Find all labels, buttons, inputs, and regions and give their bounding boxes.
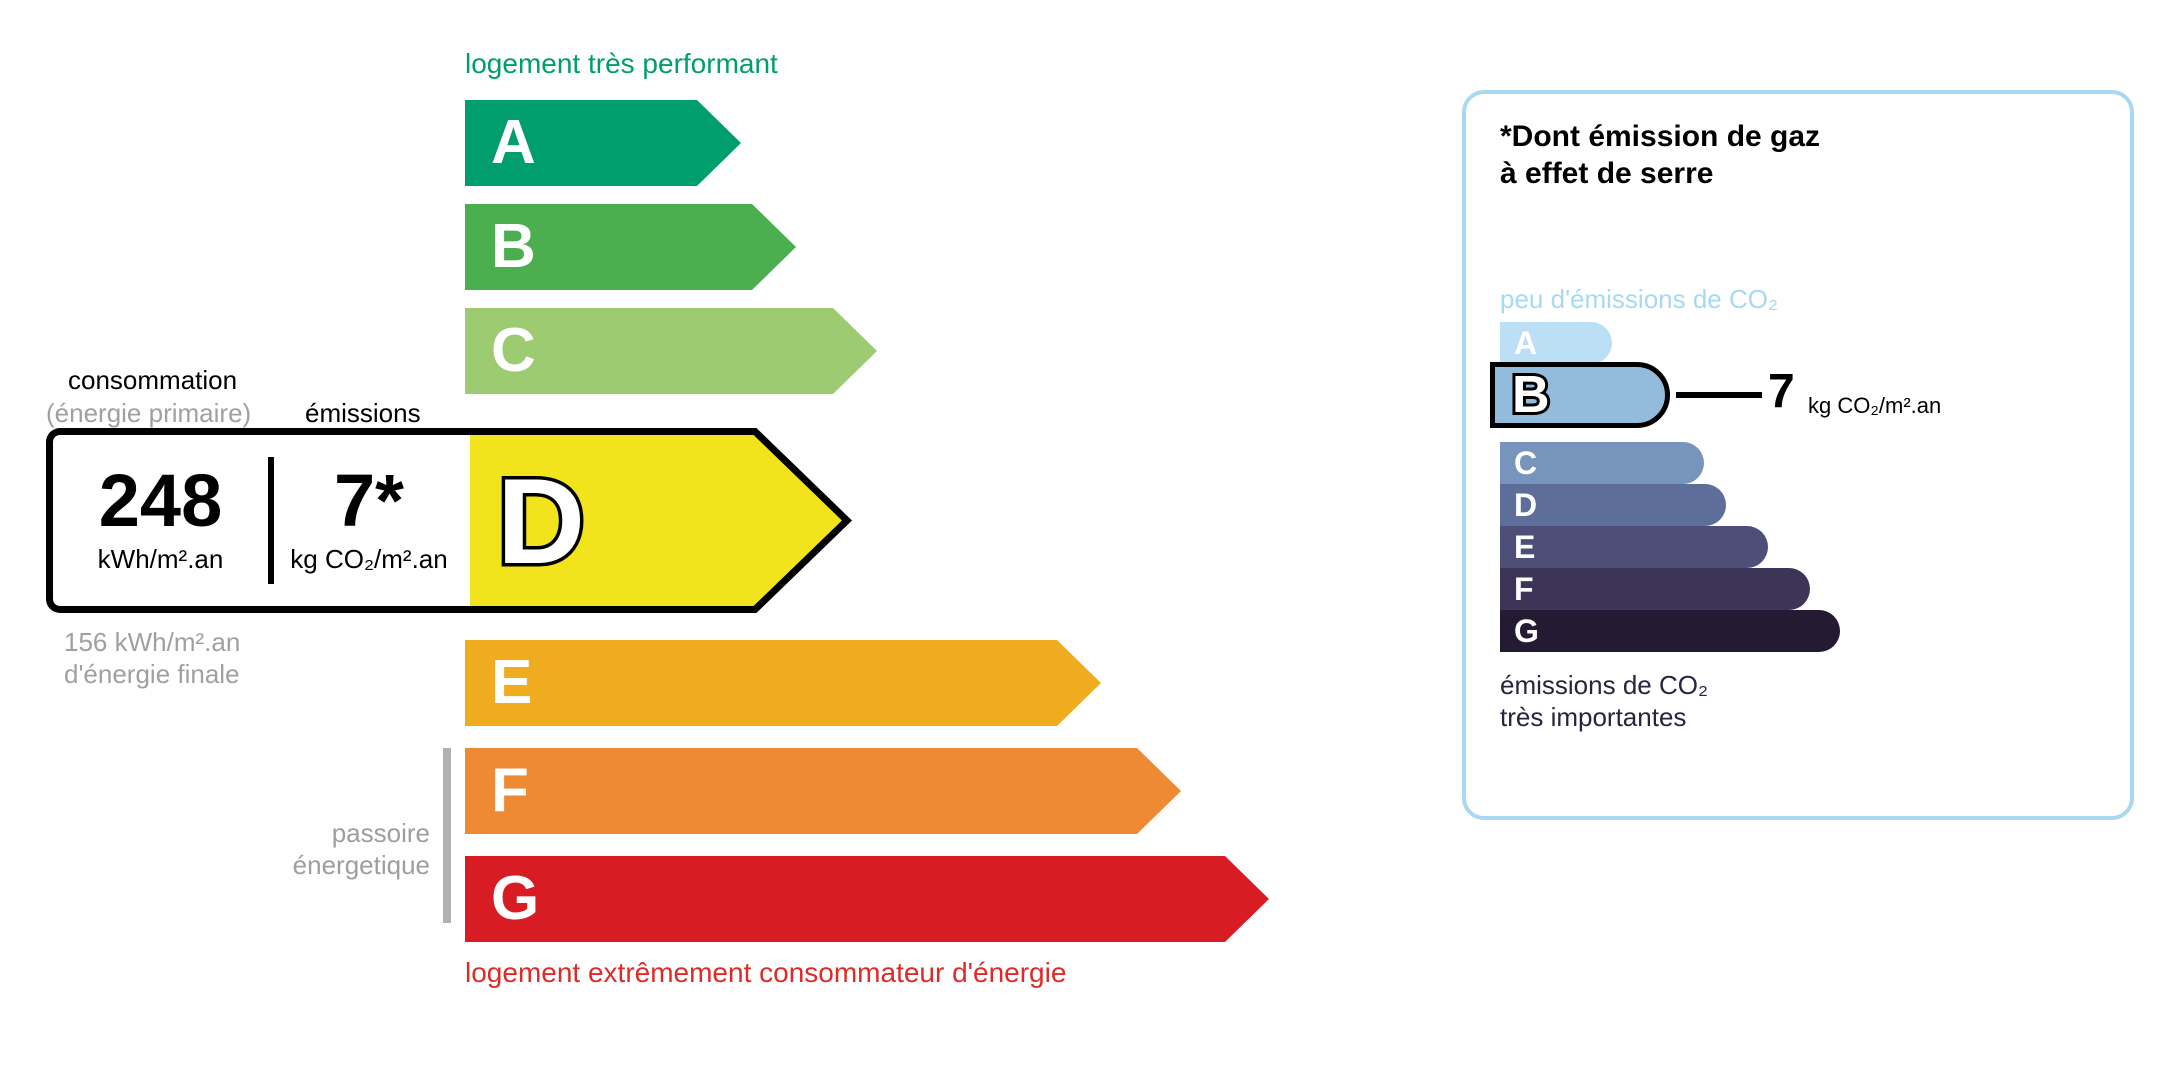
energy-class-letter-f: F xyxy=(491,760,529,822)
co2-class-letter-d: D xyxy=(1514,489,1537,521)
co2-class-letter-a: A xyxy=(1514,327,1537,359)
co2-panel-title: *Dont émission de gaz à effet de serre xyxy=(1500,119,1820,192)
arrow-shape: B xyxy=(465,204,796,290)
arrow-shape: F xyxy=(465,748,1181,834)
arrow-tip xyxy=(1225,856,1269,942)
passoire-line2: énergetique xyxy=(200,850,430,882)
energy-class-arrow-g: G xyxy=(465,856,1269,942)
arrow-shape: A xyxy=(465,100,741,186)
arrow-body xyxy=(465,856,1225,942)
co2-top-caption: peu d'émissions de CO₂ xyxy=(1500,284,1778,315)
passoire-label: passoire énergetique xyxy=(200,818,430,881)
consumption-value-cell: 248 kWh/m².an xyxy=(53,435,268,606)
consumption-label: consommation xyxy=(68,365,237,396)
co2-bar-shape xyxy=(1500,526,1768,568)
arrow-tip xyxy=(833,308,877,394)
passoire-line1: passoire xyxy=(200,818,430,850)
co2-class-letter-c: C xyxy=(1514,447,1537,479)
co2-title-line2: à effet de serre xyxy=(1500,156,1820,193)
energy-class-arrow-b: B xyxy=(465,204,796,290)
energy-class-arrow-a: A xyxy=(465,100,741,186)
emissions-value-cell: 7* kg CO₂/m².an xyxy=(268,435,470,606)
co2-class-bar-g: G xyxy=(1500,610,1840,652)
passoire-marker-bar xyxy=(443,748,451,923)
co2-bottom-line1: émissions de CO₂ xyxy=(1500,670,1708,702)
final-energy-note: 156 kWh/m².an d'énergie finale xyxy=(64,627,240,690)
value-box: 248 kWh/m².an 7* kg CO₂/m².an xyxy=(46,428,470,613)
energy-class-letter-current: D xyxy=(497,460,585,582)
co2-bottom-caption: émissions de CO₂ très importantes xyxy=(1500,670,1708,733)
co2-connector-line xyxy=(1676,392,1762,398)
co2-class-letter-current: B xyxy=(1512,369,1550,421)
bottom-caption: logement extrêmement consommateur d'éner… xyxy=(465,957,1066,989)
arrow-shape: E xyxy=(465,640,1101,726)
co2-class-bar-e: E xyxy=(1500,526,1768,568)
final-energy-line2: d'énergie finale xyxy=(64,659,240,691)
co2-class-letter-g: G xyxy=(1514,615,1539,647)
energy-class-arrow-f: F xyxy=(465,748,1181,834)
arrow-tip xyxy=(752,204,796,290)
emissions-label: émissions xyxy=(305,398,421,429)
co2-bottom-line2: très importantes xyxy=(1500,702,1708,734)
co2-class-bar-f: F xyxy=(1500,568,1810,610)
final-energy-line1: 156 kWh/m².an xyxy=(64,627,240,659)
co2-bar-shape xyxy=(1500,568,1810,610)
energy-class-letter-e: E xyxy=(491,652,532,714)
arrow-tip xyxy=(697,100,741,186)
arrow-shape: G xyxy=(465,856,1269,942)
consumption-unit: kWh/m².an xyxy=(98,544,224,575)
energy-class-letter-g: G xyxy=(491,868,539,930)
co2-value: 7 xyxy=(1768,369,1795,417)
co2-bar-shape xyxy=(1500,610,1840,652)
consumption-value: 248 xyxy=(99,466,222,536)
co2-emissions-panel: *Dont émission de gaz à effet de serre p… xyxy=(1462,90,2134,820)
emissions-unit: kg CO₂/m².an xyxy=(290,544,447,575)
emissions-value: 7* xyxy=(334,466,404,536)
co2-title-line1: *Dont émission de gaz xyxy=(1500,119,1820,156)
co2-class-bar-a: A xyxy=(1500,322,1612,364)
energy-class-letter-a: A xyxy=(491,112,536,174)
arrow-tip xyxy=(1057,640,1101,726)
arrow-shape: C xyxy=(465,308,877,394)
top-caption: logement très performant xyxy=(465,48,778,80)
energy-class-arrow-current: D xyxy=(465,428,867,613)
arrow-tip xyxy=(1137,748,1181,834)
primary-energy-label: (énergie primaire) xyxy=(46,398,251,429)
energy-class-arrow-c: C xyxy=(465,308,877,394)
co2-class-letter-f: F xyxy=(1514,573,1534,605)
energy-class-letter-b: B xyxy=(491,216,536,278)
co2-class-letter-e: E xyxy=(1514,531,1535,563)
co2-class-bar-d: D xyxy=(1500,484,1726,526)
arrow-body xyxy=(465,748,1137,834)
energy-performance-diagram: logement très performant ABCEFG D consom… xyxy=(0,0,1400,1079)
co2-value-unit: kg CO₂/m².an xyxy=(1808,393,1941,419)
energy-class-arrow-e: E xyxy=(465,640,1101,726)
energy-class-letter-c: C xyxy=(491,320,536,382)
arrow-body xyxy=(465,640,1057,726)
co2-class-bar-c: C xyxy=(1500,442,1704,484)
